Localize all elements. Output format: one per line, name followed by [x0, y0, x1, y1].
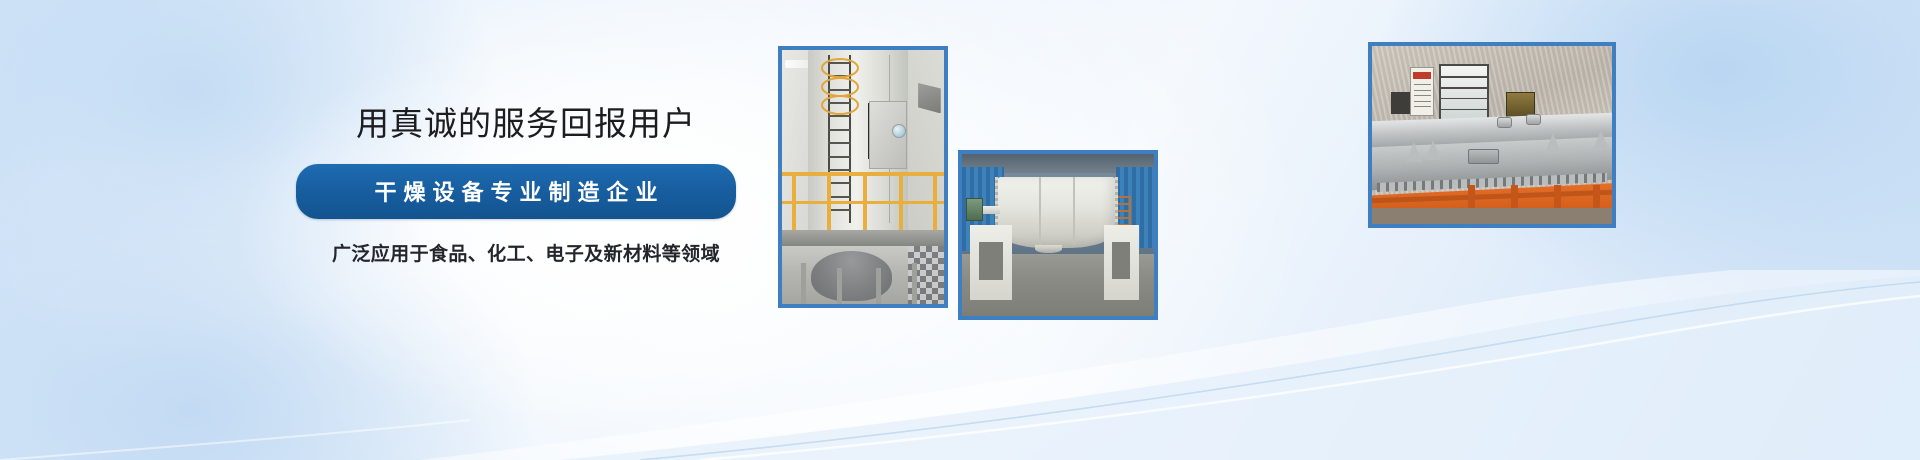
banner-text-block: 用真诚的服务回报用户 干燥设备专业制造企业 广泛应用于食品、化工、电子及新材料等… [296, 104, 756, 266]
banner-badge: 干燥设备专业制造企业 [296, 164, 736, 219]
photo-spray-dryer-tower [778, 46, 948, 308]
platform-railing [782, 172, 944, 233]
banner-subtitle: 广泛应用于食品、化工、电子及新材料等领域 [296, 239, 756, 266]
photo-ribbon-mixer [958, 150, 1158, 320]
photo-vibrating-fluid-bed-dryer [1368, 42, 1616, 228]
banner-headline: 用真诚的服务回报用户 [296, 104, 756, 144]
hero-banner: 用真诚的服务回报用户 干燥设备专业制造企业 广泛应用于食品、化工、电子及新材料等… [0, 0, 1920, 460]
